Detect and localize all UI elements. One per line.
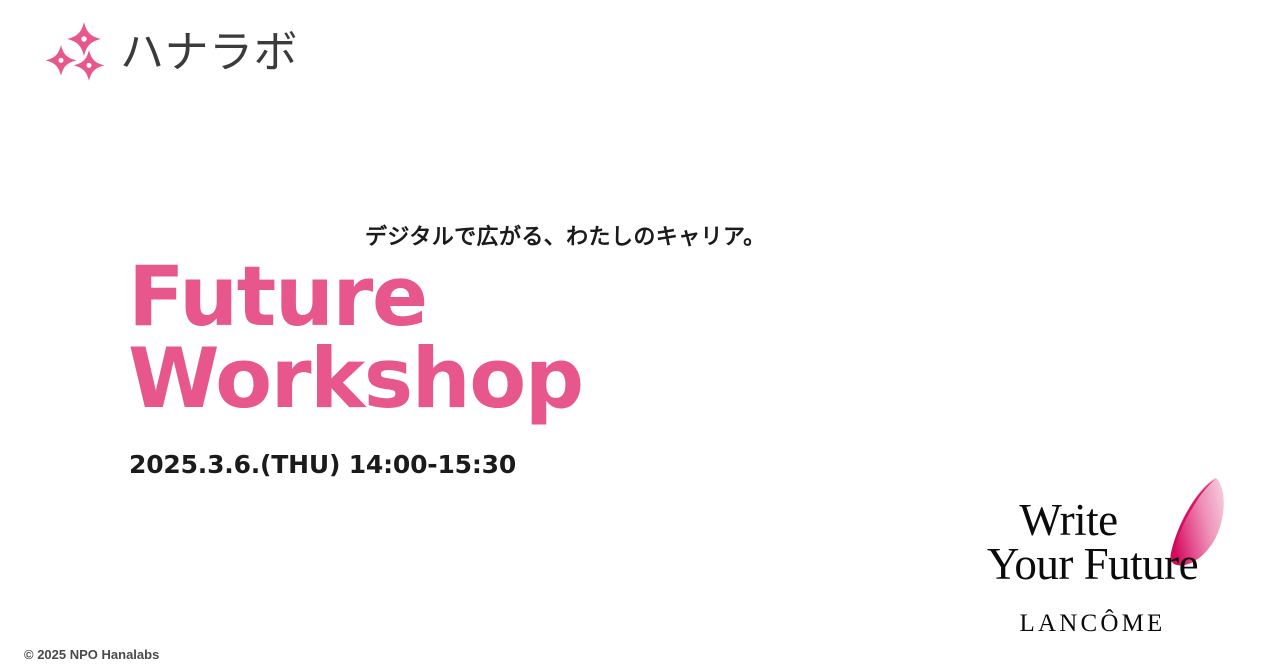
brand-wordmark: ハナラボ <box>120 31 298 75</box>
sponsor-lockup[interactable]: Write Your Future LANCÔME <box>955 472 1240 647</box>
event-date: 2025.3.6.(THU) 14:00-15:30 <box>129 450 516 479</box>
brand-logo[interactable]: ハナラボ <box>44 18 298 88</box>
hero-kicker: デジタルで広がる、わたしのキャリア。 <box>365 219 766 251</box>
hero-title-line-1: Future <box>128 256 828 338</box>
sparkle-cluster-icon <box>44 20 110 86</box>
hero-title: Future Workshop <box>128 256 828 420</box>
footer-copyright: © 2025 NPO Hanalabs <box>24 647 159 662</box>
sponsor-brand-name: LANCÔME <box>955 610 1230 638</box>
slide-canvas: ハナラボ デジタルで広がる、わたしのキャリア。 Future Workshop … <box>0 0 1280 669</box>
sponsor-tagline-line-1: Write <box>955 498 1230 542</box>
sponsor-tagline-line-2: Your Future <box>955 542 1230 586</box>
sponsor-tagline: Write Your Future <box>955 498 1230 586</box>
hero-title-line-2: Workshop <box>128 338 828 420</box>
